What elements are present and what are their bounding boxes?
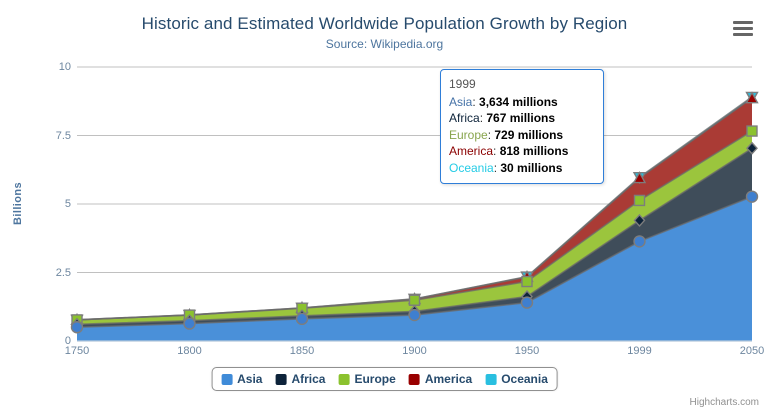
tooltip: 1999 Asia: 3,634 millionsAfrica: 767 mil… bbox=[440, 69, 604, 184]
marker-europe bbox=[410, 295, 420, 305]
legend-item-oceania[interactable]: Oceania bbox=[485, 372, 548, 386]
x-tick-label: 1850 bbox=[290, 345, 314, 357]
tooltip-series-name: Europe bbox=[449, 128, 488, 142]
tooltip-series-name: America bbox=[449, 144, 493, 158]
marker-asia bbox=[634, 236, 645, 247]
legend-swatch-icon bbox=[275, 374, 286, 385]
y-tick-label: 2.5 bbox=[31, 267, 71, 279]
legend-label: Africa bbox=[291, 372, 325, 386]
marker-europe bbox=[635, 195, 645, 205]
tooltip-row: Oceania: 30 millions bbox=[449, 160, 595, 177]
tooltip-header: 1999 bbox=[449, 76, 595, 94]
tooltip-rows: Asia: 3,634 millionsAfrica: 767 millions… bbox=[449, 94, 595, 177]
highcharts-container: Historic and Estimated Worldwide Populat… bbox=[0, 0, 769, 416]
y-tick-label: 5 bbox=[31, 198, 71, 210]
marker-asia bbox=[522, 297, 533, 308]
marker-asia bbox=[184, 318, 195, 329]
tooltip-separator: : bbox=[472, 95, 479, 109]
tooltip-series-value: 3,634 millions bbox=[479, 95, 558, 109]
tooltip-series-name: Asia bbox=[449, 95, 472, 109]
marker-europe bbox=[747, 126, 757, 136]
x-tick-label: 1800 bbox=[177, 345, 201, 357]
marker-asia bbox=[747, 191, 758, 202]
legend-label: Asia bbox=[237, 372, 262, 386]
legend-item-america[interactable]: America bbox=[409, 372, 472, 386]
legend-item-africa[interactable]: Africa bbox=[275, 372, 325, 386]
tooltip-series-value: 729 millions bbox=[494, 128, 563, 142]
x-tick-label: 1900 bbox=[402, 345, 426, 357]
y-axis-title: Billions bbox=[12, 182, 26, 225]
tooltip-series-value: 767 millions bbox=[486, 111, 555, 125]
x-tick-label: 1999 bbox=[627, 345, 651, 357]
legend-item-europe[interactable]: Europe bbox=[338, 372, 395, 386]
tooltip-series-name: Africa bbox=[449, 111, 480, 125]
legend-label: America bbox=[425, 372, 472, 386]
legend-label: Europe bbox=[354, 372, 395, 386]
tooltip-series-name: Oceania bbox=[449, 161, 494, 175]
marker-asia bbox=[409, 310, 420, 321]
credits-link[interactable]: Highcharts.com bbox=[690, 397, 759, 408]
y-tick-label: 7.5 bbox=[31, 130, 71, 142]
y-tick-label: 10 bbox=[31, 61, 71, 73]
tooltip-row: Europe: 729 millions bbox=[449, 127, 595, 144]
tooltip-series-value: 30 millions bbox=[500, 161, 562, 175]
marker-asia bbox=[72, 322, 83, 333]
tooltip-row: Africa: 767 millions bbox=[449, 110, 595, 127]
tooltip-row: America: 818 millions bbox=[449, 143, 595, 160]
legend-swatch-icon bbox=[338, 374, 349, 385]
legend-label: Oceania bbox=[501, 372, 548, 386]
tooltip-separator: : bbox=[493, 144, 500, 158]
x-tick-label: 2050 bbox=[740, 345, 764, 357]
legend: AsiaAfricaEuropeAmericaOceania bbox=[211, 367, 558, 391]
legend-swatch-icon bbox=[221, 374, 232, 385]
marker-asia bbox=[297, 313, 308, 324]
x-tick-label: 1750 bbox=[65, 345, 89, 357]
legend-swatch-icon bbox=[409, 374, 420, 385]
plot-area bbox=[0, 0, 769, 416]
x-tick-label: 1950 bbox=[515, 345, 539, 357]
marker-europe bbox=[522, 277, 532, 287]
legend-item-asia[interactable]: Asia bbox=[221, 372, 262, 386]
tooltip-series-value: 818 millions bbox=[500, 144, 569, 158]
legend-swatch-icon bbox=[485, 374, 496, 385]
tooltip-row: Asia: 3,634 millions bbox=[449, 94, 595, 111]
